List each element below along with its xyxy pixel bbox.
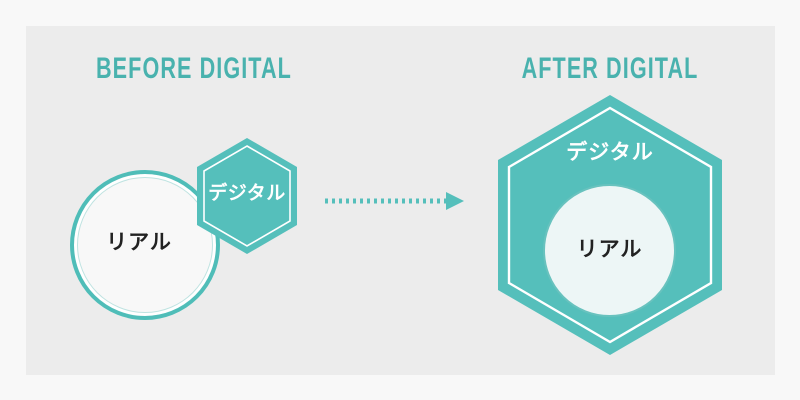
before-digital-heading: BEFORE DIGITAL: [96, 54, 292, 84]
before-digital-label: デジタル: [197, 184, 297, 203]
infographic-canvas: BEFORE DIGITAL リアル デジタル AFTER DIGITAL デジ…: [0, 0, 800, 400]
after-digital-heading: AFTER DIGITAL: [522, 54, 699, 84]
after-real-label: リアル: [543, 239, 676, 260]
dotted-arrow-right-icon: [324, 190, 464, 212]
before-real-label: リアル: [64, 232, 214, 253]
after-digital-label: デジタル: [498, 142, 722, 163]
